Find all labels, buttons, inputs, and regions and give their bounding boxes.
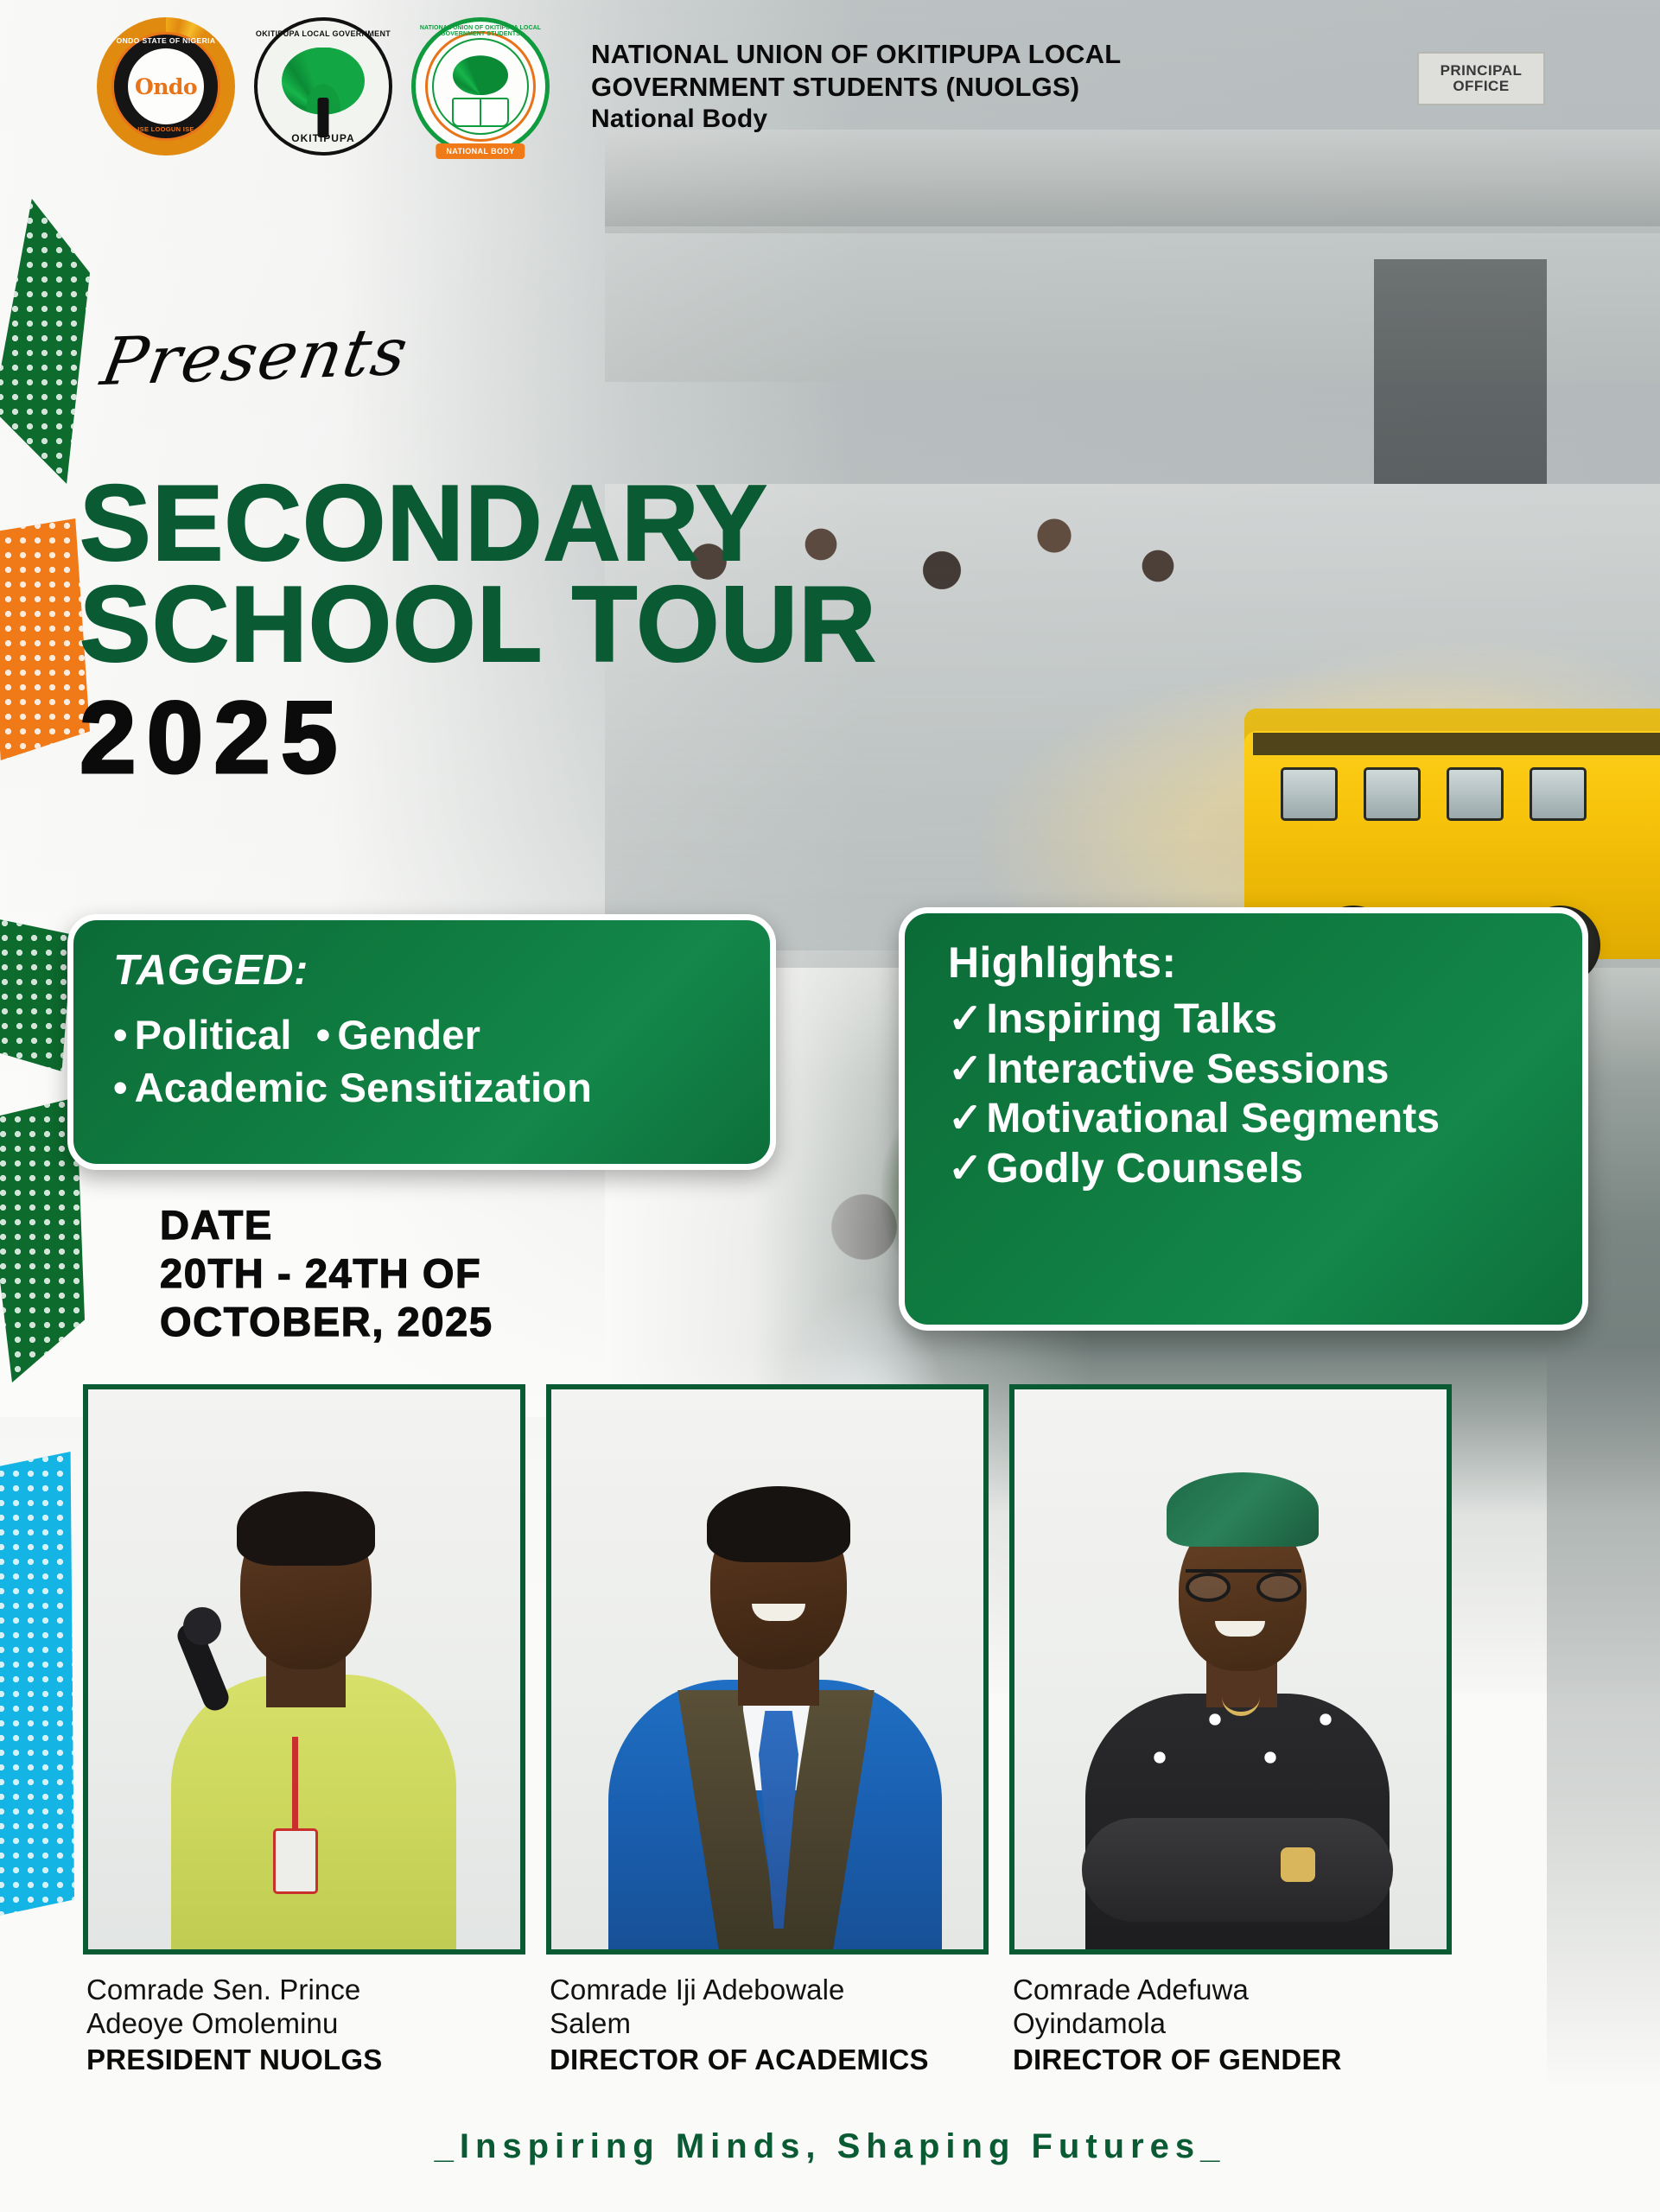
speaker-portrait-gender bbox=[1014, 1389, 1447, 1949]
speaker-portrait-academics bbox=[551, 1389, 983, 1949]
portrait-torso bbox=[171, 1675, 456, 1955]
date-range-line1: 20TH - 24TH OF bbox=[160, 1249, 493, 1298]
tagged-card-heading: TAGGED: bbox=[113, 946, 735, 995]
microphone-head-icon bbox=[183, 1607, 221, 1645]
eyeglass-lens-left bbox=[1186, 1573, 1231, 1602]
speaker-caption: Comrade Adefuwa Oyindamola DIRECTOR OF G… bbox=[1009, 1974, 1452, 2076]
speaker-role: DIRECTOR OF GENDER bbox=[1013, 2044, 1452, 2076]
event-title-line1: SECONDARY bbox=[80, 474, 877, 575]
date-label: DATE bbox=[160, 1201, 493, 1249]
highlight-label: Motivational Segments bbox=[986, 1096, 1440, 1141]
flyer-tagline: _Inspiring Minds, Shaping Futures_ bbox=[0, 2127, 1660, 2166]
ondo-seal-arc-top: ONDO STATE OF NIGERIA bbox=[97, 36, 235, 45]
tagged-card: TAGGED: •Political•Gender •Academic Sens… bbox=[67, 914, 776, 1170]
decorative-green-dotted-shape bbox=[0, 916, 73, 1071]
portrait-hair bbox=[707, 1486, 850, 1562]
ondo-state-seal-icon: ONDO STATE OF NIGERIA Ondo ISE LOOGUN IS… bbox=[97, 17, 235, 156]
speaker-photo-frame bbox=[83, 1384, 525, 1955]
speaker-portrait-president bbox=[88, 1389, 520, 1949]
school-bus-window bbox=[1281, 767, 1338, 821]
check-icon: ✓ bbox=[948, 1094, 983, 1144]
org-title-line2: GOVERNMENT STUDENTS (NUOLGS) bbox=[591, 71, 1121, 104]
speaker-role: PRESIDENT NUOLGS bbox=[86, 2044, 525, 2076]
speaker-name-line1: Comrade Adefuwa bbox=[1013, 1974, 1452, 2007]
ondo-seal-arc-bottom: ISE LOOGUN ISE bbox=[97, 125, 235, 133]
school-bus-window bbox=[1364, 767, 1421, 821]
speaker-caption: Comrade Sen. Prince Adeoye Omoleminu PRE… bbox=[83, 1974, 525, 2076]
flyer-header: ONDO STATE OF NIGERIA Ondo ISE LOOGUN IS… bbox=[0, 0, 1660, 173]
portrait-lanyard bbox=[292, 1737, 298, 1832]
decorative-blue-dotted-shape bbox=[0, 1452, 74, 1918]
tagged-card-row-2: •Academic Sensitization bbox=[113, 1061, 735, 1114]
national-body-banner: NATIONAL BODY bbox=[436, 143, 525, 159]
highlight-label: Inspiring Talks bbox=[986, 996, 1277, 1042]
highlight-item: ✓Inspiring Talks bbox=[948, 995, 1553, 1045]
organisation-title: NATIONAL UNION OF OKITIPUPA LOCAL GOVERN… bbox=[591, 38, 1121, 135]
event-date-block: DATE 20TH - 24TH OF OCTOBER, 2025 bbox=[160, 1201, 493, 1346]
okitipupa-local-government-seal-icon: OKITIPUPA LOCAL GOVERNMENT OKITIPUPA bbox=[254, 17, 392, 156]
speaker-role: DIRECTOR OF ACADEMICS bbox=[550, 2044, 989, 2076]
highlights-card: Highlights: ✓Inspiring Talks ✓Interactiv… bbox=[899, 907, 1588, 1331]
portrait-head-wrap bbox=[1167, 1472, 1319, 1547]
nb-seal-arc-top: NATIONAL UNION OF OKITIPUPA LOCAL GOVERN… bbox=[411, 25, 550, 37]
bullet-icon: • bbox=[113, 1061, 128, 1114]
org-title-line3: National Body bbox=[591, 104, 1121, 136]
lg-seal-arc-top: OKITIPUPA LOCAL GOVERNMENT bbox=[254, 29, 392, 38]
speaker-name-line1: Comrade Iji Adebowale bbox=[550, 1974, 989, 2007]
highlight-item: ✓Godly Counsels bbox=[948, 1144, 1553, 1194]
highlight-label: Interactive Sessions bbox=[986, 1046, 1389, 1092]
portrait-hair bbox=[237, 1491, 375, 1566]
speaker-caption: Comrade Iji Adebowale Salem DIRECTOR OF … bbox=[546, 1974, 989, 2076]
speaker-photo-frame bbox=[546, 1384, 989, 1955]
ondo-wordmark: Ondo bbox=[135, 74, 197, 99]
check-icon: ✓ bbox=[948, 1045, 983, 1095]
school-bus-label-band bbox=[1253, 733, 1660, 755]
highlight-label: Godly Counsels bbox=[986, 1146, 1303, 1192]
tagged-item-political: Political bbox=[135, 1012, 292, 1058]
bullet-icon: • bbox=[316, 1008, 331, 1061]
speaker-list: Comrade Sen. Prince Adeoye Omoleminu PRE… bbox=[83, 1384, 1604, 2076]
speaker-name-line2: Oyindamola bbox=[1013, 2007, 1452, 2041]
background-doorway bbox=[1374, 259, 1547, 484]
portrait-folded-arms bbox=[1082, 1818, 1393, 1922]
check-icon: ✓ bbox=[948, 1144, 983, 1194]
decorative-orange-dotted-shape bbox=[0, 518, 90, 760]
event-year: 2025 bbox=[80, 687, 877, 789]
speaker-name-line2: Adeoye Omoleminu bbox=[86, 2007, 525, 2041]
speaker-card: Comrade Adefuwa Oyindamola DIRECTOR OF G… bbox=[1009, 1384, 1452, 2076]
speaker-card: Comrade Iji Adebowale Salem DIRECTOR OF … bbox=[546, 1384, 989, 2076]
speaker-photo-frame bbox=[1009, 1384, 1452, 1955]
presents-script-text: Presents bbox=[96, 313, 415, 400]
highlight-item: ✓Motivational Segments bbox=[948, 1094, 1553, 1144]
bullet-icon: • bbox=[113, 1008, 128, 1061]
date-range-line2: OCTOBER, 2025 bbox=[160, 1298, 493, 1346]
lg-seal-arc-bottom: OKITIPUPA bbox=[254, 132, 392, 144]
eyeglasses-icon bbox=[1186, 1569, 1301, 1599]
speaker-name-line2: Salem bbox=[550, 2007, 989, 2041]
speaker-name-line1: Comrade Sen. Prince bbox=[86, 1974, 525, 2007]
tagged-card-row-1: •Political•Gender bbox=[113, 1008, 735, 1061]
school-bus-window bbox=[1447, 767, 1504, 821]
event-title-line2: SCHOOL TOUR bbox=[80, 575, 877, 676]
highlight-item: ✓Interactive Sessions bbox=[948, 1045, 1553, 1095]
nuolgs-national-body-seal-icon: NATIONAL UNION OF OKITIPUPA LOCAL GOVERN… bbox=[411, 17, 550, 156]
open-book-icon bbox=[452, 98, 509, 127]
palm-trunk-icon bbox=[318, 98, 329, 137]
seal-center-disc: Ondo bbox=[128, 48, 204, 124]
portrait-id-badge bbox=[273, 1828, 318, 1894]
event-title: SECONDARY SCHOOL TOUR 2025 bbox=[80, 474, 877, 789]
portrait-smile bbox=[1215, 1621, 1265, 1637]
eyeglass-lens-right bbox=[1256, 1573, 1301, 1602]
check-icon: ✓ bbox=[948, 995, 983, 1045]
org-title-line1: NATIONAL UNION OF OKITIPUPA LOCAL bbox=[591, 38, 1121, 71]
palm-tree-icon bbox=[453, 55, 508, 95]
tagged-item-gender: Gender bbox=[337, 1012, 480, 1058]
school-bus-window bbox=[1530, 767, 1587, 821]
portrait-wristwatch bbox=[1281, 1847, 1315, 1882]
tagged-item-academic-sensitization: Academic Sensitization bbox=[135, 1065, 592, 1110]
highlights-card-heading: Highlights: bbox=[948, 938, 1553, 988]
speaker-card: Comrade Sen. Prince Adeoye Omoleminu PRE… bbox=[83, 1384, 525, 2076]
flyer-poster: PRINCIPAL OFFICE ONDO STATE OF NIGERIA O… bbox=[0, 0, 1660, 2212]
